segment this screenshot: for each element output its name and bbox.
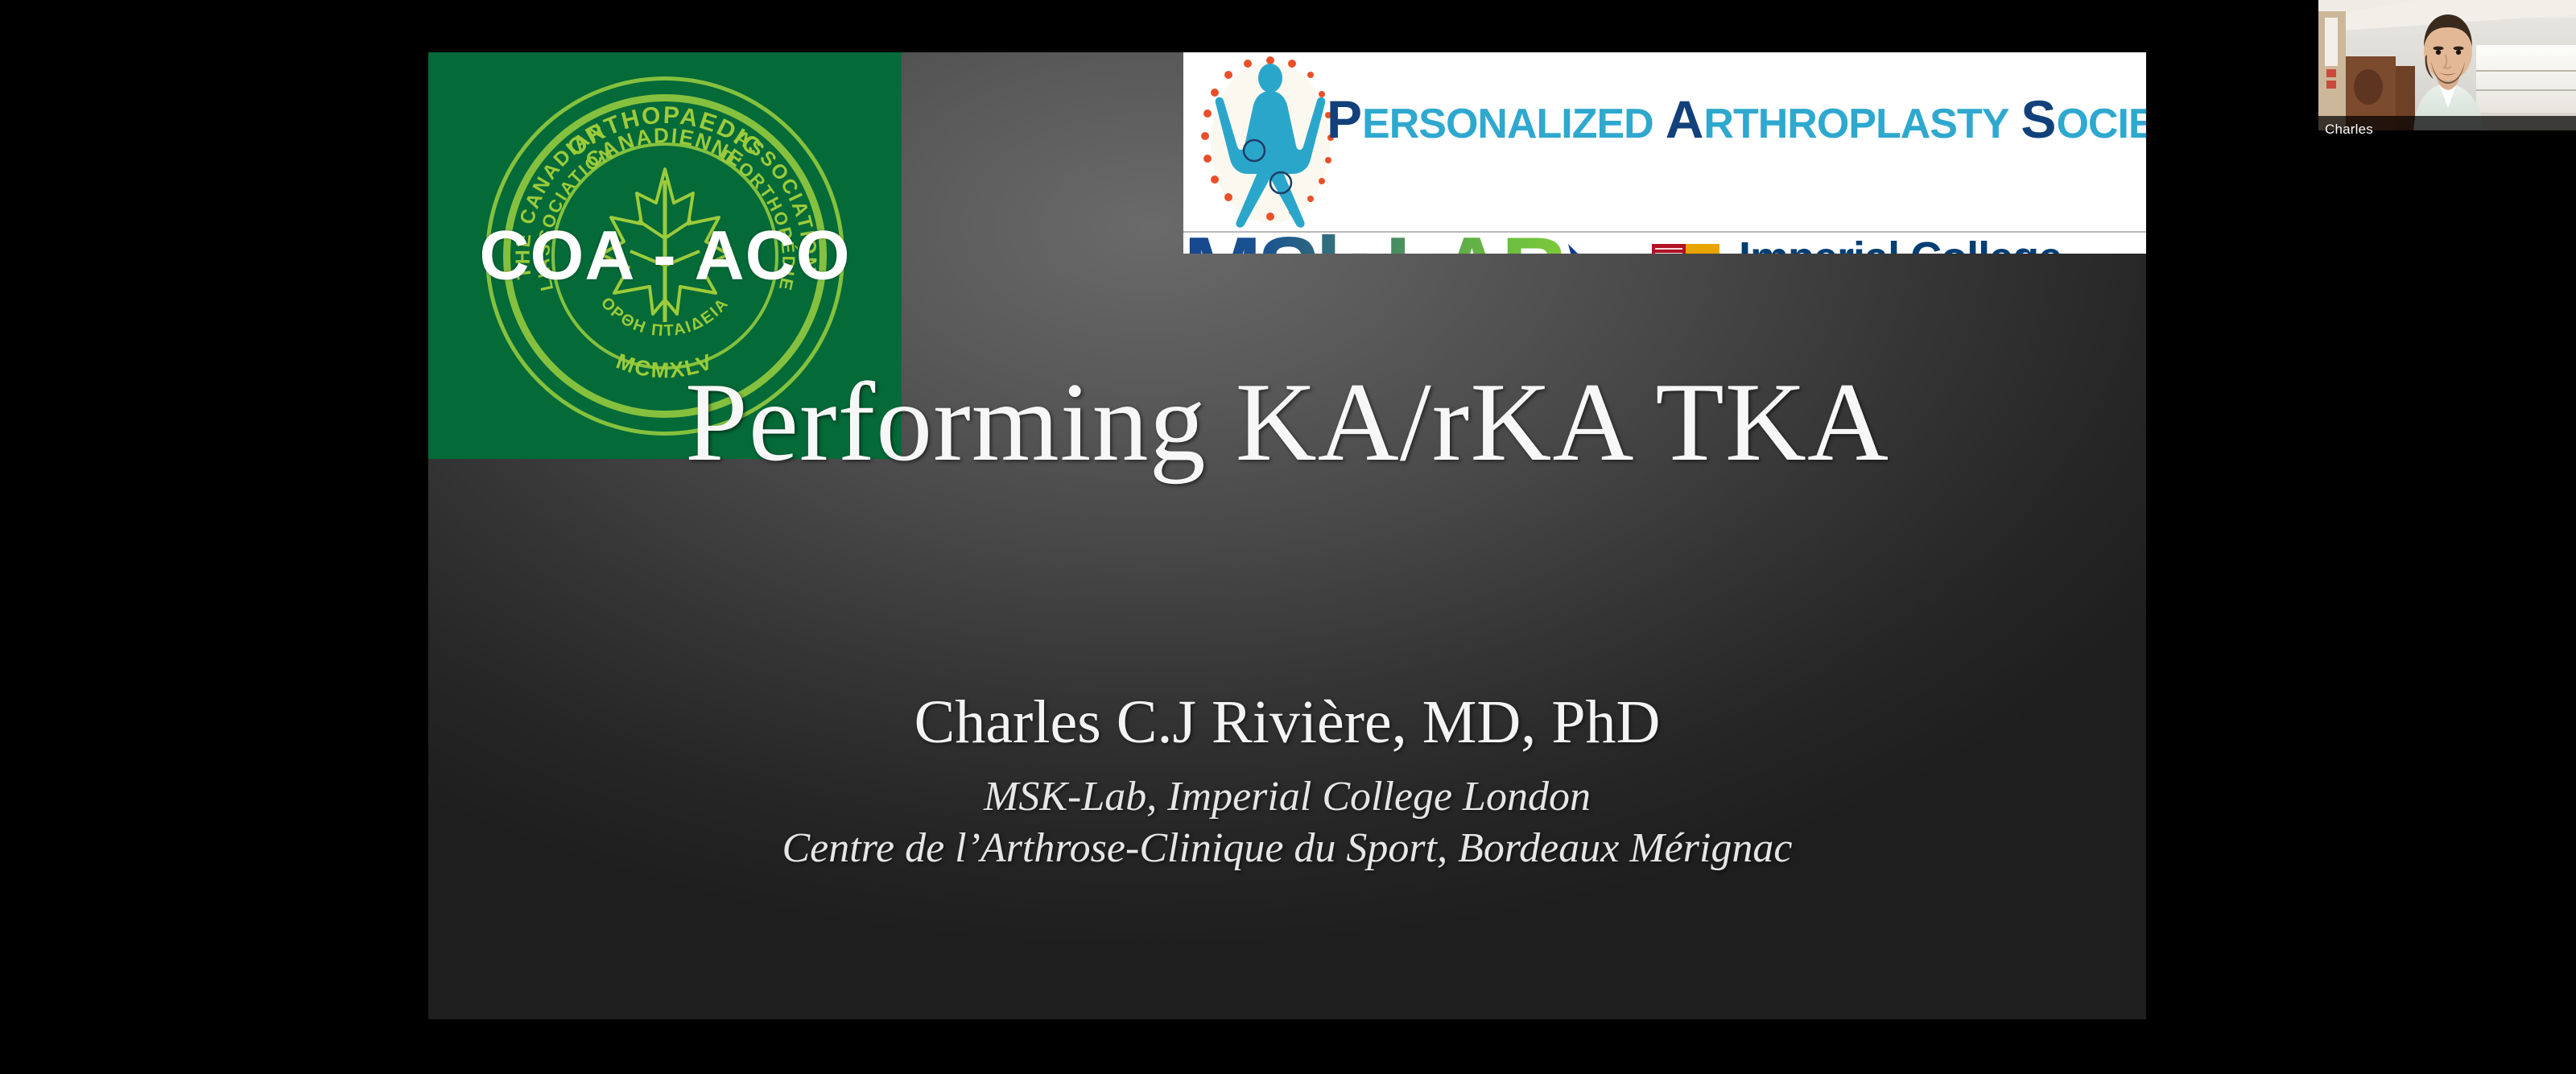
pas-word-arthroplasty: RTHROPLASTY xyxy=(1703,101,2008,147)
author-name: Charles C.J Rivière, MD, PhD xyxy=(428,688,2146,757)
byline: Charles C.J Rivière, MD, PhD MSK-Lab, Im… xyxy=(428,688,2146,874)
participant-name-label: Charles xyxy=(2325,122,2373,138)
affiliation-line-1: MSK-Lab, Imperial College London xyxy=(428,771,2146,822)
chevron-right-icon xyxy=(1562,242,1618,254)
imperial-line-1: Imperial College xyxy=(1739,238,2062,254)
imperial-college-crest-icon: SCIENTIA SCIENTIA IMPERII DECUS ET TUTAM… xyxy=(1644,239,1728,254)
pas-word-society: OCIETY xyxy=(2056,101,2146,147)
screen-share-view: ORTHOPAEDIC CANADIENNE MCMXLV ΟΡΘΗ ΠΤΑΙΔ… xyxy=(0,0,2576,1074)
coa-aco-wordmark: COA - ACO xyxy=(440,216,890,295)
personalized-arthroplasty-society-logo: PERSONALIZED ARTHROPLASTY SOCIETY xyxy=(1183,52,2146,232)
page-title: Performing KA/rKA TKA xyxy=(428,366,2146,479)
pas-cap-s: S xyxy=(2021,89,2056,149)
affiliation-line-2: Centre de l’Arthrose-Clinique du Sport, … xyxy=(428,823,2146,874)
pas-wordmark: PERSONALIZED ARTHROPLASTY SOCIETY xyxy=(1327,93,2146,146)
msk-lab-imperial-logo: MSk LAB SCIENT xyxy=(1183,233,2146,254)
presentation-slide: ORTHOPAEDIC CANADIENNE MCMXLV ΟΡΘΗ ΠΤΑΙΔ… xyxy=(428,52,2146,1019)
pas-cap-a: A xyxy=(1666,89,1704,149)
participant-video-tile[interactable]: Charles xyxy=(2318,0,2576,145)
msk-lab-wordmark: MSk LAB xyxy=(1183,233,1565,254)
sponsor-banner: PERSONALIZED ARTHROPLASTY SOCIETY MSk LA… xyxy=(1183,52,2146,254)
pas-cap-p: P xyxy=(1327,89,1362,149)
pas-word-personalized: ERSONALIZED xyxy=(1362,101,1653,147)
imperial-college-wordmark: Imperial College London xyxy=(1739,238,2062,254)
